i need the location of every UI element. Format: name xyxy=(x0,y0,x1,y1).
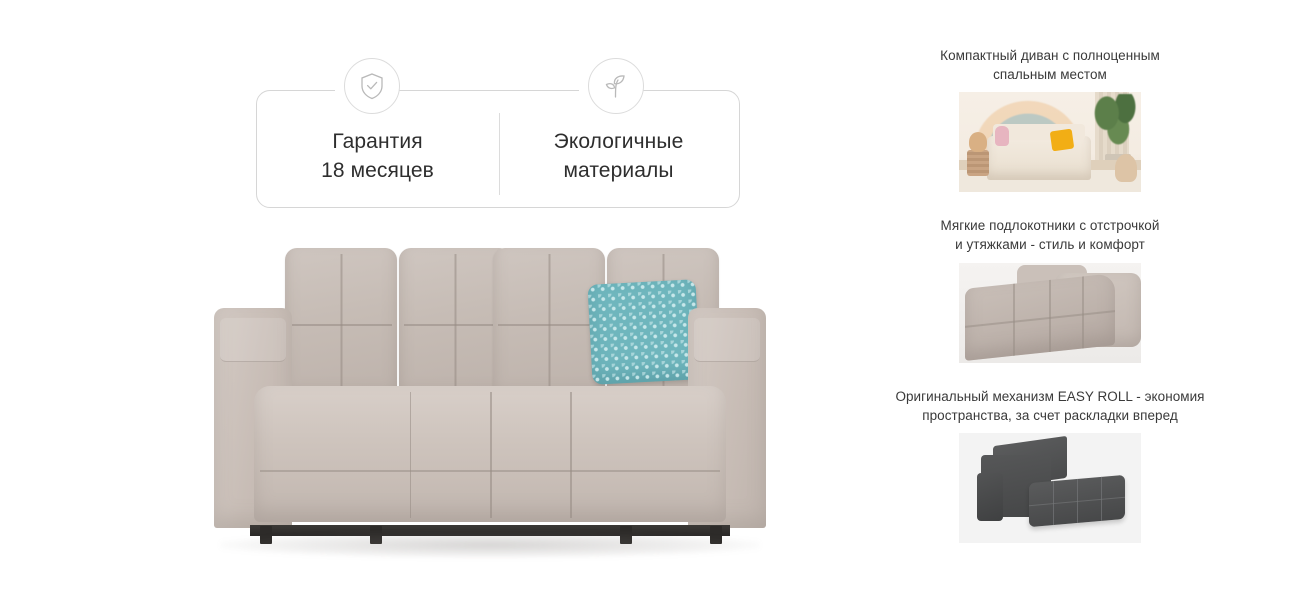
armrest-stitch xyxy=(220,318,286,362)
unfolded-sofa-bed-photo xyxy=(959,433,1141,543)
shield-check-icon xyxy=(359,72,385,100)
feature-column-eco: Экологичные материалы xyxy=(498,112,739,186)
warranty-title: Гарантия xyxy=(332,128,422,157)
yellow-pillow xyxy=(1050,129,1075,152)
bear-figure xyxy=(1115,154,1137,182)
unfolded-bed-section xyxy=(1029,475,1125,527)
main-product-image xyxy=(190,236,790,566)
feature-item-easy-roll: Оригинальный механизм EASY ROLL - эконом… xyxy=(880,387,1220,543)
backrest-cushion xyxy=(493,248,605,400)
eco-leaf-icon xyxy=(602,72,630,100)
armrest-stitch xyxy=(1082,276,1084,348)
eco-subtitle: материалы xyxy=(563,157,673,186)
seat-stitch xyxy=(260,470,720,472)
armrest-closeup-photo xyxy=(959,263,1141,363)
feature-caption: Мягкие подлокотники с отстрочкой и утяжк… xyxy=(880,216,1220,254)
feature-item-sleeping-place: Компактный диван с полноценным спальным … xyxy=(880,46,1220,192)
eco-leaf-badge xyxy=(588,58,644,114)
seat-stitch xyxy=(410,392,412,518)
eco-title: Экологичные xyxy=(554,128,684,157)
feature-column-warranty: Гарантия 18 месяцев xyxy=(257,112,498,186)
sofa-armrest-left xyxy=(977,473,1003,521)
warranty-duration: 18 месяцев xyxy=(321,157,434,186)
teal-accent-pillow xyxy=(587,279,700,385)
feature-list: Компактный диван с полноценным спальным … xyxy=(880,46,1220,567)
sofa-armrest xyxy=(965,273,1115,361)
armrest-stitch xyxy=(965,310,1115,327)
seat-stitch xyxy=(490,392,492,518)
armrest-stitch xyxy=(1049,280,1051,352)
shield-check-badge xyxy=(344,58,400,114)
product-shadow xyxy=(220,532,760,558)
sofa-seat xyxy=(254,386,726,522)
nursery-room-sofa-photo xyxy=(959,92,1141,192)
pillow-pattern xyxy=(587,279,700,385)
armrest-stitch xyxy=(694,318,760,362)
plush-toy xyxy=(995,126,1009,146)
feature-item-armrests: Мягкие подлокотники с отстрочкой и утяжк… xyxy=(880,216,1220,362)
wicker-basket xyxy=(967,150,989,176)
teddy-bear xyxy=(969,132,987,152)
armrest-stitch xyxy=(1013,283,1015,355)
backrest-cushion xyxy=(285,248,397,400)
seat-stitch xyxy=(570,392,572,518)
product-marketing-banner: Гарантия 18 месяцев Экологичные материал… xyxy=(0,0,1310,608)
feature-caption: Компактный диван с полноценным спальным … xyxy=(880,46,1220,84)
feature-badges-card: Гарантия 18 месяцев Экологичные материал… xyxy=(256,90,740,208)
house-plant xyxy=(1093,94,1139,158)
feature-caption: Оригинальный механизм EASY ROLL - эконом… xyxy=(880,387,1220,425)
